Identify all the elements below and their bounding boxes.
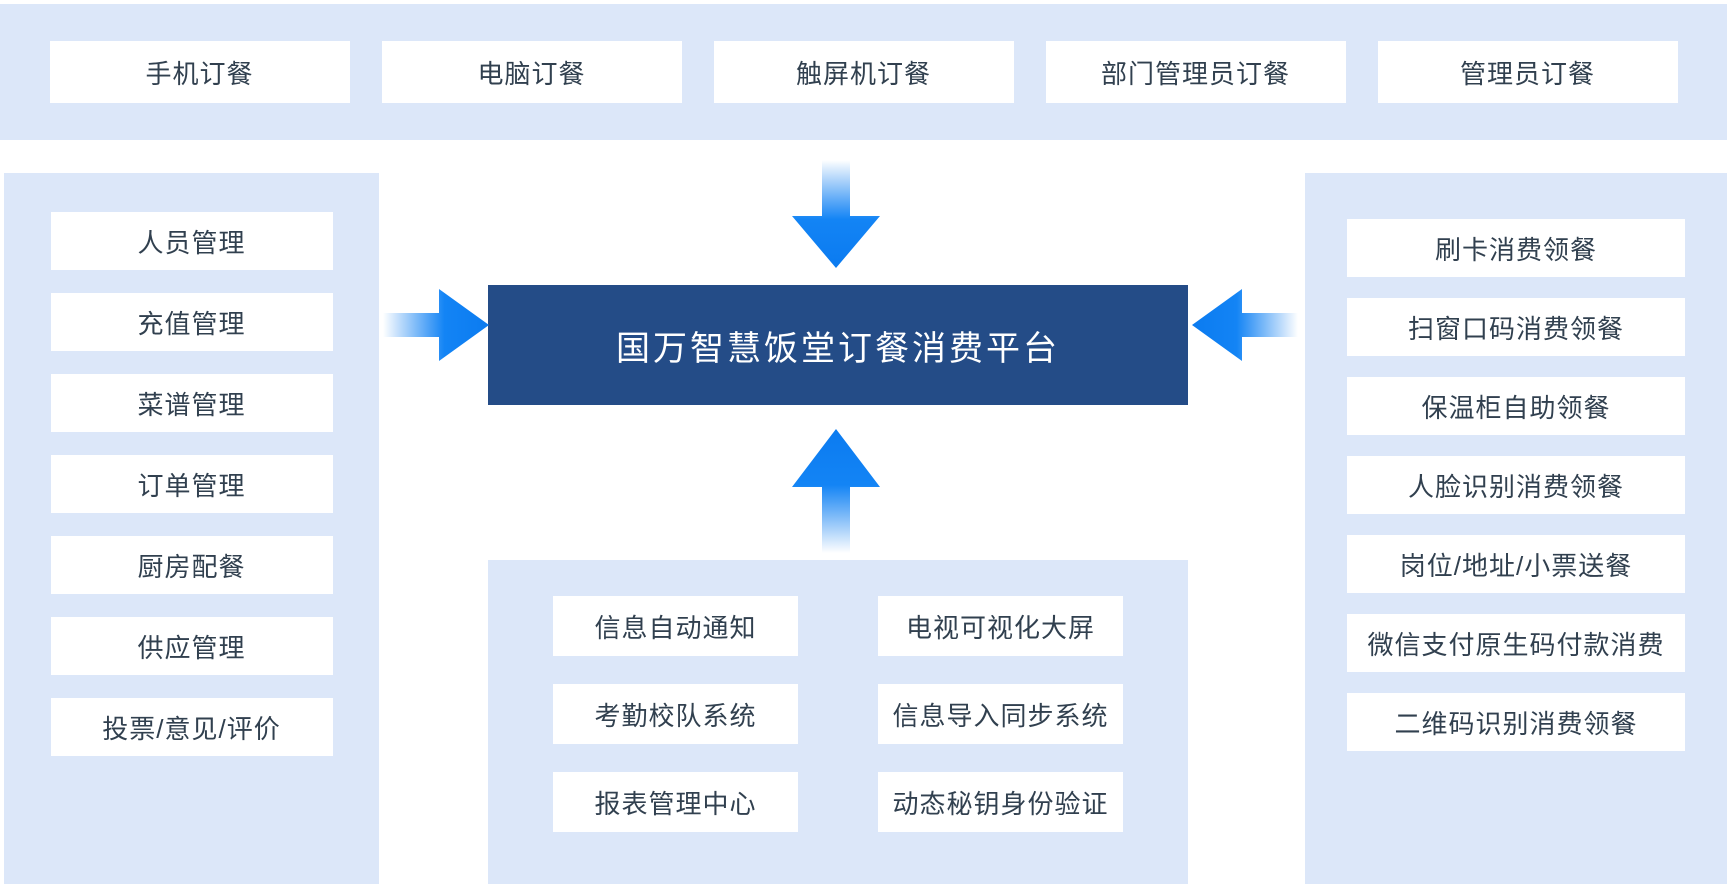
- bottom-panel-item-label: 信息自动通知: [594, 608, 756, 645]
- bottom-panel-item[interactable]: 信息自动通知: [553, 596, 798, 656]
- left-panel-item-label: 订单管理: [137, 466, 245, 503]
- bottom-panel-item[interactable]: 考勤校队系统: [553, 684, 798, 744]
- central-platform-title: 国万智慧饭堂订餐消费平台: [616, 321, 1060, 370]
- arrow-up-to-hub-icon: [784, 425, 888, 555]
- right-consumption-panel: 刷卡消费领餐 扫窗口码消费领餐 保温柜自助领餐 人脸识别消费领餐 岗位/地址/小…: [1305, 173, 1727, 884]
- left-panel-item-label: 充值管理: [137, 304, 245, 341]
- left-panel-item[interactable]: 菜谱管理: [51, 374, 333, 432]
- left-panel-item[interactable]: 订单管理: [51, 455, 333, 513]
- top-channel-chip[interactable]: 电脑订餐: [382, 41, 682, 103]
- left-management-panel: 人员管理 充值管理 菜谱管理 订单管理 厨房配餐 供应管理 投票/意见/评价: [4, 173, 379, 884]
- right-panel-item[interactable]: 岗位/地址/小票送餐: [1347, 535, 1685, 593]
- top-channel-label: 部门管理员订餐: [1101, 54, 1290, 91]
- left-panel-item[interactable]: 供应管理: [51, 617, 333, 675]
- bottom-panel-item[interactable]: 报表管理中心: [553, 772, 798, 832]
- right-panel-item[interactable]: 扫窗口码消费领餐: [1347, 298, 1685, 356]
- right-panel-item-label: 人脸识别消费领餐: [1408, 467, 1624, 504]
- top-channel-chip[interactable]: 手机订餐: [50, 41, 350, 103]
- top-channels-band: 手机订餐 电脑订餐 触屏机订餐 部门管理员订餐 管理员订餐: [0, 4, 1727, 140]
- left-panel-item[interactable]: 人员管理: [51, 212, 333, 270]
- left-panel-item[interactable]: 厨房配餐: [51, 536, 333, 594]
- top-channel-chip[interactable]: 管理员订餐: [1378, 41, 1678, 103]
- left-panel-item-label: 人员管理: [137, 223, 245, 260]
- bottom-panel-item-label: 信息导入同步系统: [892, 696, 1108, 733]
- arrow-right-to-hub-icon: [383, 287, 491, 363]
- bottom-panel-item[interactable]: 信息导入同步系统: [878, 684, 1123, 744]
- bottom-panel-item[interactable]: 动态秘钥身份验证: [878, 772, 1123, 832]
- arrow-left-to-hub-icon: [1186, 287, 1298, 363]
- right-panel-item[interactable]: 微信支付原生码付款消费: [1347, 614, 1685, 672]
- bottom-panel-item-label: 动态秘钥身份验证: [892, 784, 1108, 821]
- bottom-panel-item[interactable]: 电视可视化大屏: [878, 596, 1123, 656]
- right-panel-item-label: 微信支付原生码付款消费: [1367, 625, 1664, 662]
- right-panel-item[interactable]: 人脸识别消费领餐: [1347, 456, 1685, 514]
- top-channel-label: 手机订餐: [145, 54, 253, 91]
- right-panel-item-label: 刷卡消费领餐: [1435, 230, 1597, 267]
- left-panel-item[interactable]: 投票/意见/评价: [51, 698, 333, 756]
- left-panel-item-label: 菜谱管理: [137, 385, 245, 422]
- bottom-panel-item-label: 考勤校队系统: [594, 696, 756, 733]
- left-panel-item-label: 厨房配餐: [137, 547, 245, 584]
- bottom-features-panel: 信息自动通知 电视可视化大屏 考勤校队系统 信息导入同步系统 报表管理中心 动态…: [488, 560, 1188, 884]
- right-panel-item-label: 岗位/地址/小票送餐: [1400, 546, 1632, 583]
- top-channel-label: 管理员订餐: [1460, 54, 1595, 91]
- top-channel-label: 电脑订餐: [477, 54, 585, 91]
- arrow-down-to-hub-icon: [784, 160, 888, 270]
- right-panel-item-label: 扫窗口码消费领餐: [1408, 309, 1624, 346]
- right-panel-item[interactable]: 保温柜自助领餐: [1347, 377, 1685, 435]
- left-panel-item-label: 供应管理: [137, 628, 245, 665]
- left-panel-item-label: 投票/意见/评价: [102, 709, 280, 746]
- top-channel-label: 触屏机订餐: [796, 54, 931, 91]
- bottom-panel-item-label: 报表管理中心: [594, 784, 756, 821]
- central-platform-box: 国万智慧饭堂订餐消费平台: [488, 285, 1188, 405]
- diagram-canvas: 手机订餐 电脑订餐 触屏机订餐 部门管理员订餐 管理员订餐 人员管理 充值管理 …: [0, 0, 1727, 884]
- right-panel-item[interactable]: 二维码识别消费领餐: [1347, 693, 1685, 751]
- right-panel-item-label: 保温柜自助领餐: [1421, 388, 1610, 425]
- bottom-panel-item-label: 电视可视化大屏: [906, 608, 1095, 645]
- right-panel-item-label: 二维码识别消费领餐: [1394, 704, 1637, 741]
- top-channel-chip[interactable]: 触屏机订餐: [714, 41, 1014, 103]
- left-panel-item[interactable]: 充值管理: [51, 293, 333, 351]
- top-channel-chip[interactable]: 部门管理员订餐: [1046, 41, 1346, 103]
- right-panel-item[interactable]: 刷卡消费领餐: [1347, 219, 1685, 277]
